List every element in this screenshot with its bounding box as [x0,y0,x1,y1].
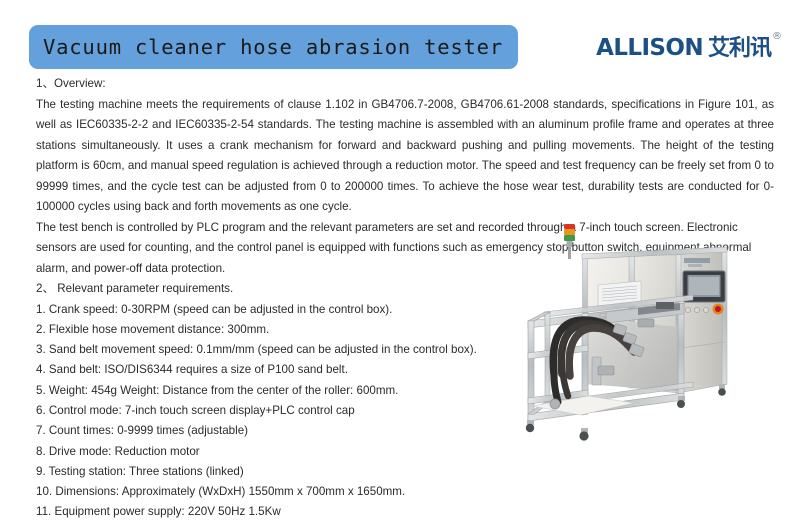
page-title: Vacuum cleaner hose abrasion tester [43,37,503,58]
registered-trademark-icon: ® [772,32,782,42]
overview-paragraph-1: The testing machine meets the requiremen… [0,95,800,218]
machine-photo [488,224,800,450]
list-item: 11. Equipment power supply: 220V 50Hz 1.… [0,502,800,522]
logo-chinese-text: 艾利讯 [708,36,771,61]
tower-light-icon [564,224,575,259]
list-item: 9. Testing station: Three stations (link… [0,462,800,482]
control-buttons [685,307,708,312]
emergency-stop-button [713,304,724,315]
page-header: Vacuum cleaner hose abrasion tester ALLI… [0,0,800,78]
list-item: 10. Dimensions: Approximately (WxDxH) 15… [0,482,800,502]
logo-latin-text: ALLISON [596,36,703,61]
title-banner: Vacuum cleaner hose abrasion tester [29,25,518,69]
brand-logo: ALLISON 艾利讯 ® [596,36,782,66]
overview-heading: 1、Overview: [0,74,800,95]
